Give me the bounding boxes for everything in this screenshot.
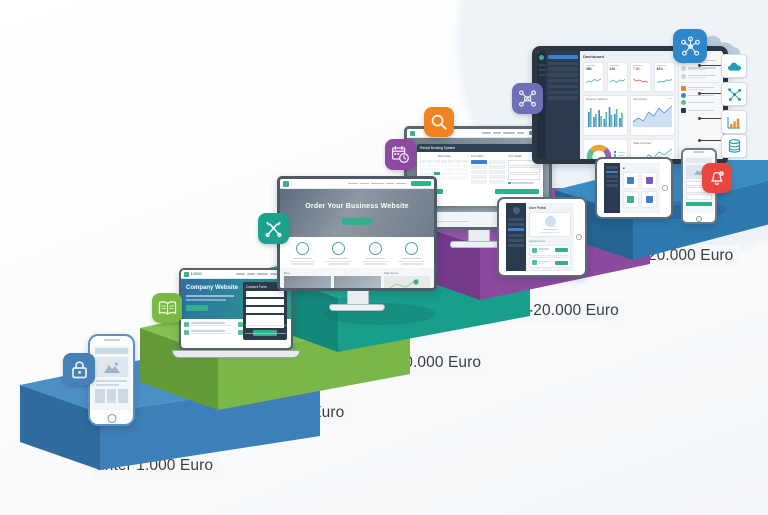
chart-area-card: User Activity ●●●	[630, 95, 675, 137]
tablet4-row[interactable]	[529, 245, 571, 256]
phone-screen-wireframe	[92, 346, 131, 410]
monitor3-hero: Order Your Business Website	[280, 189, 434, 237]
service-row[interactable]	[681, 86, 721, 91]
chart-donut-card	[583, 139, 628, 159]
tablet5-screen: ■	[604, 163, 660, 213]
chart-title-line: Sales Overview	[633, 142, 672, 145]
area-chart-svg	[633, 102, 672, 128]
activity-row[interactable]	[681, 66, 721, 71]
calendar-clock-icon	[385, 139, 416, 170]
monitor3-blog-title: Blog	[284, 271, 381, 275]
monitor3-hero-title: Order Your Business Website	[280, 203, 434, 210]
tablet5-tile[interactable]	[641, 191, 657, 208]
chart-title-area: User Activity	[633, 98, 647, 101]
monitor3-foot	[329, 304, 385, 311]
dashboard-activity-panel: Recent Activity	[678, 51, 723, 159]
chart-line-card: Sales Overview	[630, 139, 675, 159]
monitor3-neck	[347, 291, 369, 305]
device-monitor-step3: Order Your Business Website	[277, 176, 437, 318]
connector-dot	[698, 117, 701, 120]
monitor3-hero-button[interactable]	[342, 218, 372, 225]
laptop-base	[172, 350, 300, 358]
booking-confirm-button[interactable]	[495, 189, 539, 194]
book-icon	[152, 293, 182, 323]
search-icon	[424, 107, 454, 137]
connector-line	[700, 118, 722, 119]
tablet4-profile-card	[529, 212, 571, 237]
monitor3-lower: Blog	[280, 268, 434, 291]
activity-row[interactable]	[681, 74, 721, 79]
tablet5-tile[interactable]	[641, 172, 657, 189]
connector-dot	[698, 92, 701, 95]
dashboard-kpi-row: 38K 12K 7.4K	[583, 62, 675, 93]
device-tablet-step4: User Portal ⋮ Appointments	[497, 197, 587, 277]
lock-icon	[63, 353, 95, 385]
laptop-hero: Company Website Contact Form	[181, 279, 291, 319]
network-nodes-icon	[673, 29, 707, 63]
calendar-title: Select Date	[437, 155, 450, 158]
monitor3-nav-button[interactable]	[411, 181, 431, 186]
notification-bell-icon: 1	[702, 163, 732, 193]
tablet5-home-button	[662, 185, 668, 191]
molecule-icon[interactable]	[721, 82, 747, 106]
chart-bar-card: Revenue Statistics	[583, 95, 628, 137]
service-row[interactable]	[681, 100, 721, 105]
chart-title-bar: Revenue Statistics	[586, 98, 625, 101]
laptop-hero-title: Company Website	[186, 285, 238, 291]
phone-home-button	[107, 414, 116, 423]
laptop-hero-button[interactable]	[186, 305, 208, 311]
tablet4-row[interactable]	[529, 257, 571, 268]
tablet4-row[interactable]	[529, 270, 571, 271]
design-tools-icon	[258, 213, 289, 244]
monitor3-nav	[280, 179, 434, 189]
device-smartphone-step1	[88, 334, 135, 426]
connector-line	[700, 65, 722, 66]
booking-modal-title: Rental Booking System	[420, 146, 455, 150]
connector-line	[700, 93, 722, 94]
tablet5-tile[interactable]	[623, 191, 639, 208]
device-tablet-step5: ■	[595, 157, 673, 219]
bar-chart-icon[interactable]	[721, 110, 747, 134]
sitemap-icon	[512, 83, 543, 114]
laptop-logo-text: LOGO	[191, 272, 202, 276]
tablet4-screen: User Portal ⋮ Appointments	[506, 203, 574, 271]
connector-dot	[698, 139, 701, 142]
kpi-card: 7.4K	[630, 62, 651, 93]
kpi-card: 38K	[583, 62, 604, 93]
tablet4-section-title: Appointments	[529, 240, 571, 243]
dashboard-sidebar[interactable]	[546, 51, 580, 159]
connector-dot	[698, 64, 701, 67]
tablet4-title: User Portal	[529, 206, 546, 210]
tablet5-sidebar[interactable]	[604, 163, 620, 213]
tablet4-sidebar[interactable]	[506, 203, 526, 271]
booking-timeslots[interactable]: Time Slots	[471, 155, 505, 186]
bar-chart-svg	[586, 102, 625, 128]
monitor3-map-title: Map Route	[384, 271, 430, 275]
kpi-card: 92%	[654, 62, 675, 93]
connector-line	[700, 140, 722, 141]
timeslots-title: Time Slots	[471, 155, 505, 158]
tablet5-tile[interactable]	[623, 172, 639, 189]
service-row[interactable]	[681, 108, 721, 113]
svg-text:1: 1	[720, 172, 722, 176]
dashboard-title: Dashboard	[583, 54, 675, 59]
tablet4-home-button	[576, 234, 582, 240]
database-icon[interactable]	[721, 134, 747, 158]
monitor3-features	[280, 237, 434, 268]
cloud-icon[interactable]	[721, 54, 747, 78]
kpi-card: 12K	[607, 62, 628, 93]
laptop-nav: LOGO	[181, 270, 291, 279]
infographic-canvas: unter 1.000 Euro	[0, 0, 768, 515]
phone-speaker	[104, 339, 120, 342]
